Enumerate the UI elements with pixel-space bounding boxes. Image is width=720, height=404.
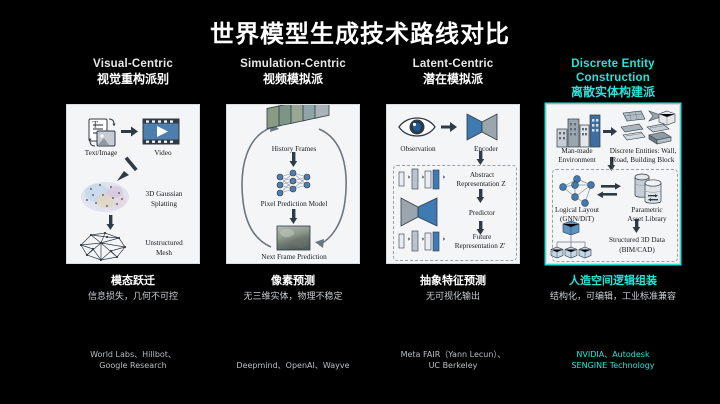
label-asset-library-1: Parametric [617, 206, 677, 214]
label-abstract-2: Representation Z [445, 180, 517, 188]
panel-icon [623, 132, 645, 140]
slide-root: 世界模型生成技术路线对比 Visual-Centric 视觉重构派别 T [0, 0, 720, 404]
footer-latent-centric: Meta FAIR（Yann Lecun）、 UC Berkeley [377, 349, 529, 378]
label-manmade-1: Man-made [547, 147, 607, 155]
label-asset-library-2: Asset Library [617, 215, 677, 223]
cube-icon [659, 111, 675, 125]
caption-title: 模态跃迁 [58, 272, 208, 288]
caption-title: 人造空间逻辑组装 [538, 272, 688, 288]
label-mesh-1: Unstructured [131, 239, 197, 247]
column-simulation-centric[interactable]: Simulation-Centric 视频模拟派 [220, 58, 366, 378]
caption-sub: 无可视化输出 [378, 292, 528, 304]
caption-title: 抽象特征预测 [378, 272, 528, 288]
beam-icon [621, 124, 643, 132]
neural-network-icon [277, 170, 310, 196]
arrow-down-model [290, 209, 298, 224]
text-image-icon: T [89, 119, 115, 146]
label-future-1: Future [449, 233, 515, 241]
arrow-right-1 [121, 127, 138, 137]
caption-sub: 无三维实体，物理不稳定 [218, 292, 368, 304]
arrow-right-entities [603, 127, 617, 136]
caption-simulation-centric: 像素预测 无三维实体，物理不稳定 [218, 272, 368, 304]
header-zh: 潜在模拟派 [413, 72, 494, 86]
label-encoder: Encoder [457, 145, 515, 153]
header-en: Discrete Entity Construction [540, 58, 686, 85]
arrow-down-1 [107, 215, 115, 230]
column-header-simulation-centric: Simulation-Centric 视频模拟派 [240, 58, 346, 104]
observation-eye-icon [399, 118, 435, 136]
brick-wall-icon [623, 111, 645, 121]
label-gaussian-1: 3D Gaussian [133, 190, 195, 198]
column-visual-centric[interactable]: Visual-Centric 视觉重构派别 T [60, 58, 206, 378]
header-zh: 视觉重构派别 [93, 72, 173, 86]
footer-line-1: Deepmind、OpenAI、Wayve [217, 360, 369, 372]
svg-text:T: T [93, 120, 99, 130]
label-abstract-1: Abstract [449, 171, 515, 179]
discrete-entities-icons [621, 111, 675, 144]
caption-sub: 结构化，可编辑，工业标准兼容 [538, 292, 688, 304]
label-observation: Observation [387, 145, 449, 153]
footer-line-1: World Labs、Hillbot、 [57, 349, 209, 361]
column-header-visual-centric: Visual-Centric 视觉重构派别 [93, 58, 173, 104]
caption-sub: 信息损失，几何不可控 [58, 292, 208, 304]
header-en: Visual-Centric [93, 58, 173, 72]
diagram-card-visual-centric: T [66, 104, 200, 264]
label-video: Video [139, 149, 187, 157]
label-next-frame-prediction: Next Frame Prediction [233, 253, 355, 261]
label-logical-layout-2: (GNN/DiT) [547, 215, 607, 223]
page-title: 世界模型生成技术路线对比 [0, 14, 720, 49]
simulation-centric-diagram [227, 105, 360, 264]
header-en: Latent-Centric [413, 58, 494, 72]
label-structured-3d-1: Structured 3D Data [595, 236, 679, 244]
label-entities-2: Road, Building Block [605, 156, 680, 164]
footer-visual-centric: World Labs、Hillbot、 Google Research [57, 349, 209, 378]
gaussian-splat-cloud [81, 182, 129, 212]
label-entities-1: Discrete Entities: Wall, [605, 147, 680, 155]
label-text-image: Text/Image [71, 149, 131, 157]
label-logical-layout-1: Logical Layout [547, 206, 607, 214]
header-zh: 视频模拟派 [240, 72, 346, 86]
history-frames-icon [267, 105, 329, 128]
footer-line-2: SENGINE Technology [537, 360, 689, 372]
caption-visual-centric: 模态跃迁 信息损失，几何不可控 [58, 272, 208, 304]
label-history-frames: History Frames [251, 145, 337, 153]
comparison-columns: Visual-Centric 视觉重构派别 T [60, 58, 680, 378]
arrow-diagonal [117, 157, 138, 181]
unstructured-mesh-icon [80, 232, 126, 261]
man-made-environment-icon [557, 115, 600, 147]
label-structured-3d-2: (BIM/CAD) [595, 246, 679, 254]
video-icon [143, 119, 179, 144]
label-mesh-2: Mesh [131, 249, 197, 257]
caption-discrete-entity: 人造空间逻辑组装 结构化，可编辑，工业标准兼容 [538, 272, 688, 304]
caption-latent-centric: 抽象特征预测 无可视化输出 [378, 272, 528, 304]
arrow-down-frames [290, 152, 298, 167]
footer-line-1: NVIDIA、Autodesk [537, 349, 689, 361]
diagram-card-latent-centric: Observation Encoder Abstract Representat… [386, 104, 520, 264]
footer-discrete-entity: NVIDIA、Autodesk SENGINE Technology [537, 349, 689, 378]
label-predictor: Predictor [449, 209, 515, 217]
column-discrete-entity-construction[interactable]: Discrete Entity Construction 离散实体构建派 [540, 58, 686, 378]
header-en: Simulation-Centric [240, 58, 346, 72]
label-pixel-prediction-model: Pixel Prediction Model [233, 200, 355, 208]
building-block-icon [649, 132, 671, 144]
label-manmade-2: Environment [547, 156, 607, 164]
column-header-latent-centric: Latent-Centric 潜在模拟派 [413, 58, 494, 104]
footer-simulation-centric: Deepmind、OpenAI、Wayve [217, 360, 369, 378]
slab-icon [647, 124, 669, 132]
encoder-icon [467, 114, 497, 140]
column-header-discrete-entity: Discrete Entity Construction 离散实体构建派 [540, 58, 686, 104]
column-latent-centric[interactable]: Latent-Centric 潜在模拟派 [380, 58, 526, 378]
loop-arrow-head-right [315, 239, 324, 248]
header-zh: 离散实体构建派 [540, 85, 686, 99]
next-frame-icon [277, 226, 310, 250]
diagram-card-simulation-centric: History Frames Pixel Prediction Model Ne… [226, 104, 360, 264]
label-gaussian-2: Splatting [133, 200, 195, 208]
diagram-card-discrete-entity: Man-made Environment Discrete Entities: … [546, 104, 680, 264]
footer-line-1: Meta FAIR（Yann Lecun）、 [377, 349, 529, 361]
footer-line-2: UC Berkeley [377, 360, 529, 372]
label-future-2: Representation Z' [443, 242, 517, 250]
caption-title: 像素预测 [218, 272, 368, 288]
arrow-right-observation [441, 122, 457, 132]
footer-line-2: Google Research [57, 360, 209, 372]
